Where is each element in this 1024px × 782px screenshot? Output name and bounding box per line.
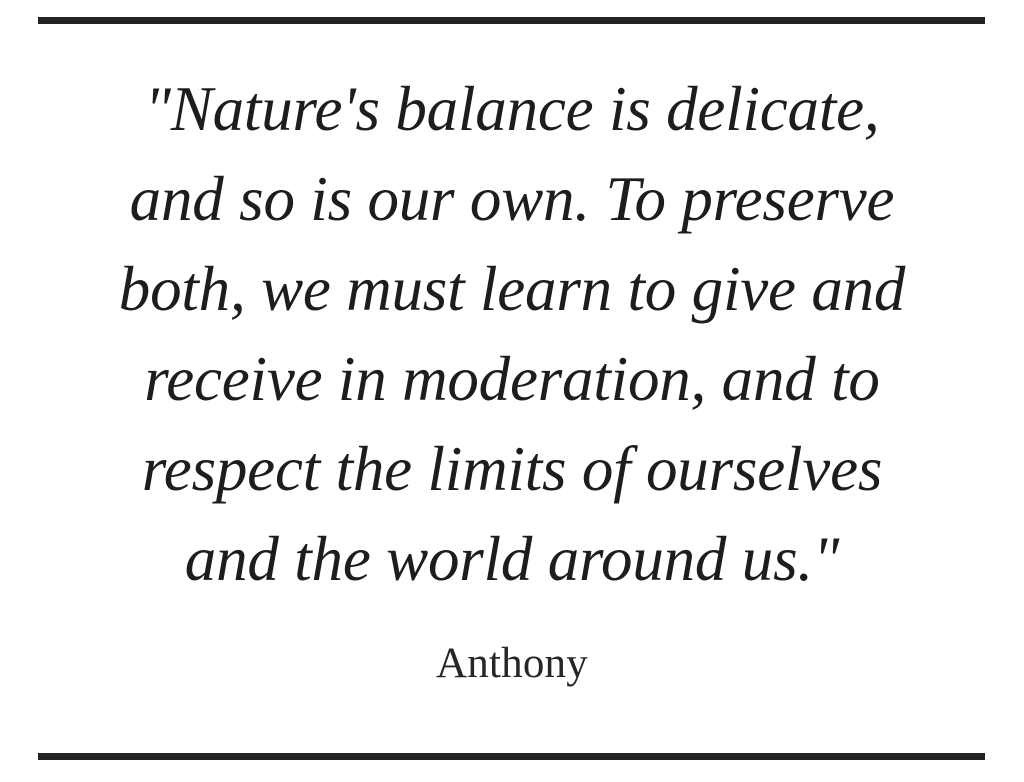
top-divider-rule bbox=[38, 17, 985, 24]
quote-line: and the world around us." bbox=[0, 514, 1024, 604]
quote-attribution: Anthony bbox=[0, 636, 1024, 692]
quote-line: and so is our own. To preserve bbox=[0, 154, 1024, 244]
quote-text-block: "Nature's balance is delicate, and so is… bbox=[0, 64, 1024, 604]
quote-card: "Nature's balance is delicate, and so is… bbox=[0, 0, 1024, 782]
bottom-divider-rule bbox=[38, 753, 985, 760]
quote-line: receive in moderation, and to bbox=[0, 334, 1024, 424]
quote-line: "Nature's balance is delicate, bbox=[0, 64, 1024, 154]
quote-line: respect the limits of ourselves bbox=[0, 424, 1024, 514]
quote-line: both, we must learn to give and bbox=[0, 244, 1024, 334]
